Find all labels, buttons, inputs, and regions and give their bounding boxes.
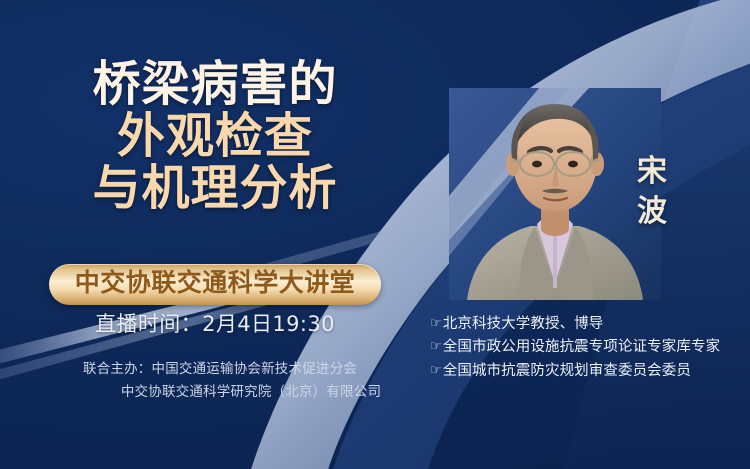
title-line-2: 外观检查	[0, 110, 430, 162]
credential-row: ☞ 全国市政公用设施抗震专项论证专家库专家	[430, 336, 720, 359]
credential-text: 全国城市抗震防灾规划审查委员会委员	[443, 360, 691, 383]
organizer-row-1: 联合主办：中国交通运输协会新技术促进分会	[0, 358, 440, 381]
poster-title: 桥梁病害的 外观检查 与机理分析	[0, 58, 430, 214]
title-line-3: 与机理分析	[0, 162, 430, 214]
live-time: 直播时间：2月4日19:30	[0, 308, 430, 338]
speaker-name: 宋 波	[627, 152, 677, 231]
speaker-name-char-1: 宋	[627, 152, 677, 192]
organizer-row-2: 中交协联交通科学研究院（北京）有限公司	[0, 381, 440, 404]
pointing-hand-icon: ☞	[430, 336, 442, 357]
speaker-credentials: ☞ 北京科技大学教授、博导 ☞ 全国市政公用设施抗震专项论证专家库专家 ☞ 全国…	[430, 313, 720, 383]
credential-text: 北京科技大学教授、博导	[443, 313, 604, 336]
credential-row: ☞ 全国城市抗震防灾规划审查委员会委员	[430, 360, 720, 383]
credential-text: 全国市政公用设施抗震专项论证专家库专家	[443, 336, 720, 359]
series-banner-wrap: 中交协联交通科学大讲堂	[0, 264, 430, 305]
series-banner: 中交协联交通科学大讲堂	[49, 264, 382, 305]
pointing-hand-icon: ☞	[430, 360, 442, 381]
credential-row: ☞ 北京科技大学教授、博导	[430, 313, 720, 336]
title-line-1: 桥梁病害的	[0, 58, 430, 110]
organizers: 联合主办：中国交通运输协会新技术促进分会 中交协联交通科学研究院（北京）有限公司	[0, 358, 440, 404]
series-banner-label: 中交协联交通科学大讲堂	[75, 269, 356, 298]
webinar-poster: 桥梁病害的 外观检查 与机理分析 中交协联交通科学大讲堂 直播时间：2月4日19…	[0, 0, 750, 469]
speaker-name-char-2: 波	[627, 192, 677, 232]
pointing-hand-icon: ☞	[430, 313, 442, 334]
